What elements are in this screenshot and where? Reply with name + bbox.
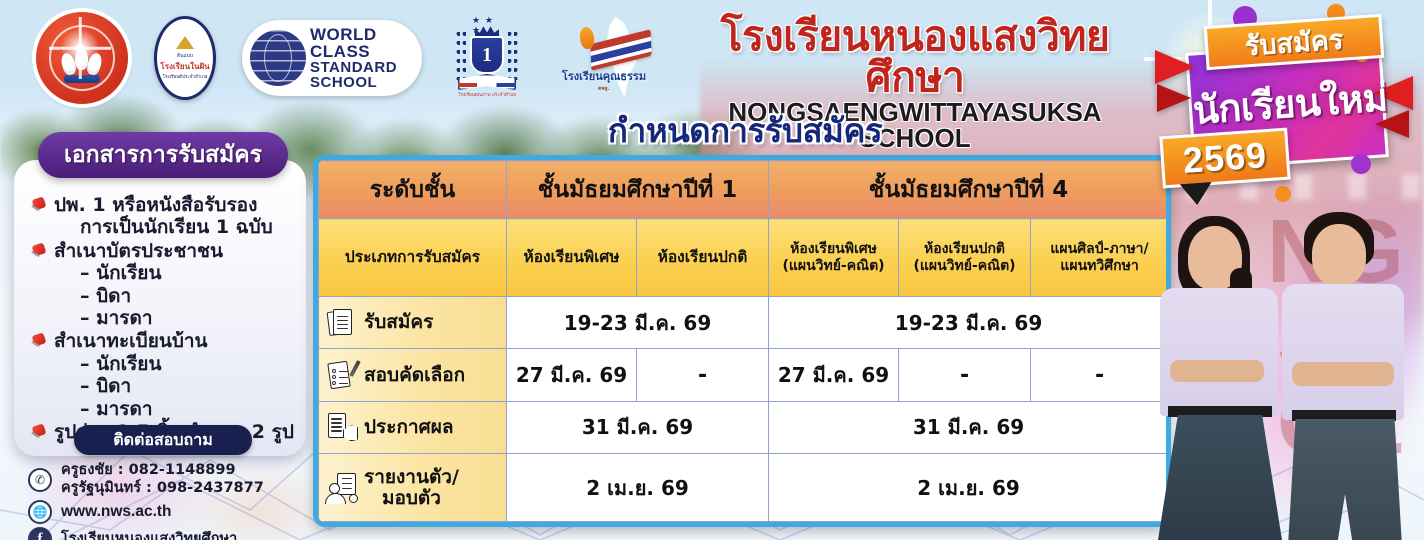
- logo-line-2: โรงเรียนในฝัน: [160, 60, 209, 73]
- crown-icon: [176, 36, 194, 49]
- header-m4-normal-line1: ห้องเรียนปกติ: [902, 241, 1027, 257]
- row-label-line2: มอบตัว: [364, 488, 459, 509]
- laurel-left-icon: [454, 32, 466, 80]
- confetti-dot: [1351, 154, 1371, 174]
- header-level: ระดับชั้น: [319, 161, 507, 219]
- contact-title-text: ติดต่อสอบถาม: [113, 428, 213, 453]
- wcs-line-2: STANDARD SCHOOL: [310, 60, 414, 90]
- header-m4-arts-line1: แผนศิลป์-ภาษา/: [1034, 241, 1165, 257]
- arrow-left-outer-icon: [1155, 50, 1195, 84]
- cell-m1-apply: 19-23 มี.ค. 69: [507, 297, 769, 349]
- header-m4-special-line2: (แผนวิทย์-คณิต): [772, 258, 895, 274]
- schedule-table-wrapper: ระดับชั้น ชั้นมัธยมศึกษาปีที่ 1 ชั้นมัธย…: [313, 155, 1171, 527]
- report-person-icon: [327, 472, 357, 504]
- logo-line-1: ต้นแบบ: [177, 52, 193, 60]
- cell-m4-announce: 31 มี.ค. 69: [769, 401, 1169, 453]
- cell-m4-report: 2 เม.ย. 69: [769, 454, 1169, 522]
- students-photo: [1148, 200, 1416, 540]
- sub-list-item: – นักเรียน: [80, 353, 294, 375]
- row-label-exam: สอบคัดเลือก: [319, 349, 507, 401]
- contact-website-row[interactable]: 🌐 www.nws.ac.th: [28, 500, 298, 524]
- globe-icon: [250, 30, 306, 86]
- contact-website[interactable]: www.nws.ac.th: [61, 503, 172, 522]
- table-header-row-groups: ระดับชั้น ชั้นมัธยมศึกษาปีที่ 1 ชั้นมัธย…: [319, 161, 1169, 219]
- row-label-text: รับสมัคร: [364, 312, 433, 333]
- list-item-text: ปพ. 1 หรือหนังสือรับรอง: [54, 194, 257, 216]
- table-row: ประกาศผล 31 มี.ค. 69 31 มี.ค. 69: [319, 401, 1169, 453]
- local-school-award-logo: ต้นแบบ โรงเรียนในฝัน โรงเรียนดีประจำอำเภ…: [154, 16, 216, 100]
- contact-phone-texts: ครูธงชัย : 082-1148899 ครูรัฐนุมินทร์ : …: [61, 462, 264, 497]
- admission-banner: รับสมัคร นักเรียนใหม่ 2569: [1155, 4, 1415, 209]
- student-female: [1154, 210, 1284, 540]
- header-group-m1: ชั้นมัธยมศึกษาปีที่ 1: [507, 161, 769, 219]
- schedule-table: ระดับชั้น ชั้นมัธยมศึกษาปีที่ 1 ชั้นมัธย…: [318, 160, 1169, 522]
- pushpin-icon: [30, 198, 47, 215]
- documents-panel-title: เอกสารการรับสมัคร: [38, 132, 288, 178]
- laurel-right-icon: [508, 32, 520, 80]
- row-label-line1: รายงานตัว/: [364, 467, 459, 488]
- header-m4-normal-line2: (แผนวิทย์-คณิต): [902, 258, 1027, 274]
- exam-paper-icon: [327, 359, 357, 391]
- row-label-text: สอบคัดเลือก: [364, 365, 465, 386]
- admission-poster: NG YSA OL ต้นแบบ โรงเรียนในฝัน โรงเรียนด…: [0, 0, 1424, 540]
- sub-list: – นักเรียน – บิดา – มารดา: [54, 262, 294, 329]
- row-label-text: ประกาศผล: [364, 417, 453, 438]
- list-item: สำเนาบัตรประชาชน – นักเรียน – บิดา – มาร…: [28, 240, 294, 330]
- header-admission-type: ประเภทการรับสมัคร: [319, 219, 507, 297]
- cell-m4-apply: 19-23 มี.ค. 69: [769, 297, 1169, 349]
- shield-icon: 1: [470, 36, 504, 74]
- facebook-icon: f: [28, 527, 52, 540]
- header-m1-special: ห้องเรียนพิเศษ: [507, 219, 637, 297]
- logo-sub-text: สพฐ.: [552, 85, 656, 93]
- logo-label: โรงเรียนคุณธรรม สพฐ.: [552, 67, 656, 93]
- schedule-title: กำหนดการรับสมัคร: [520, 104, 970, 157]
- header-m1-normal: ห้องเรียนปกติ: [637, 219, 769, 297]
- table-header-row-columns: ประเภทการรับสมัคร ห้องเรียนพิเศษ ห้องเรี…: [319, 219, 1169, 297]
- sub-list-item: – มารดา: [80, 307, 294, 329]
- table-row: รายงานตัว/ มอบตัว 2 เม.ย. 69 2 เม.ย. 69: [319, 454, 1169, 522]
- crest-caption: โรงเรียนคุณภาพ ประจำตำบล: [448, 91, 526, 98]
- world-class-standard-school-logo: WORLD CLASS STANDARD SCHOOL: [242, 20, 422, 96]
- contact-phone-row: ✆ ครูธงชัย : 082-1148899 ครูรัฐนุมินทร์ …: [28, 462, 298, 497]
- table-row: รับสมัคร 19-23 มี.ค. 69 19-23 มี.ค. 69: [319, 297, 1169, 349]
- announcement-icon: [327, 411, 357, 443]
- globe-icon: 🌐: [28, 500, 52, 524]
- header-m4-normal: ห้องเรียนปกติ (แผนวิทย์-คณิต): [899, 219, 1031, 297]
- header-m4-arts-line2: แผนทวิศึกษา: [1034, 258, 1165, 274]
- sub-list-item: – มารดา: [80, 398, 294, 420]
- contact-section: ติดต่อสอบถาม ✆ ครูธงชัย : 082-1148899 คร…: [28, 425, 298, 540]
- banner-year-text: 2569: [1182, 134, 1269, 182]
- row-label-announce: ประกาศผล: [319, 401, 507, 453]
- list-item: ปพ. 1 หรือหนังสือรับรอง การเป็นนักเรียน …: [28, 194, 294, 239]
- table-row: สอบคัดเลือก 27 มี.ค. 69 - 27 มี.ค. 69 - …: [319, 349, 1169, 401]
- documents-panel-title-text: เอกสารการรับสมัคร: [64, 137, 262, 173]
- row-label-text: รายงานตัว/ มอบตัว: [364, 467, 459, 509]
- banner-tag-year: 2569: [1159, 128, 1290, 189]
- contact-facebook-row[interactable]: f โรงเรียนหนองแสงวิทยศึกษา: [28, 527, 298, 540]
- sufficiency-school-thailand-logo: โรงเรียนคุณธรรม สพฐ.: [552, 15, 656, 101]
- documents-icon: [327, 307, 357, 339]
- sub-list: – นักเรียน – บิดา – มารดา: [54, 353, 294, 420]
- logo-row: ต้นแบบ โรงเรียนในฝัน โรงเรียนดีประจำอำเภ…: [36, 8, 656, 108]
- banner-apply-text: รับสมัคร: [1243, 17, 1344, 67]
- quality-award-crest-logo: ★ ★ ★ 1 โรงเรียนคุณภาพ ประจำตำบล: [448, 16, 526, 100]
- documents-panel: เอกสารการรับสมัคร ปพ. 1 หรือหนังสือรับรอ…: [14, 160, 306, 456]
- wcs-line-1: WORLD CLASS: [310, 26, 414, 60]
- row-label-report: รายงานตัว/ มอบตัว: [319, 454, 507, 522]
- student-male: [1274, 210, 1408, 540]
- header-m4-special: ห้องเรียนพิเศษ (แผนวิทย์-คณิต): [769, 219, 899, 297]
- documents-list: ปพ. 1 หรือหนังสือรับรอง การเป็นนักเรียน …: [28, 194, 294, 443]
- sub-list-item: – บิดา: [80, 375, 294, 397]
- contact-phone-2: ครูรัฐนุมินทร์ : 098-2437877: [61, 480, 264, 498]
- sub-list-item: – นักเรียน: [80, 262, 294, 284]
- confetti-dot: [1275, 186, 1291, 202]
- logo-label-text: โรงเรียนคุณธรรม: [562, 70, 646, 83]
- cell-m4-normal-exam: -: [899, 349, 1031, 401]
- contact-phone-1: ครูธงชัย : 082-1148899: [61, 462, 264, 480]
- list-item: สำเนาทะเบียนบ้าน – นักเรียน – บิดา – มาร…: [28, 330, 294, 420]
- logo-line-3: โรงเรียนดีประจำอำเภอ: [163, 73, 208, 80]
- list-item-continuation: การเป็นนักเรียน 1 ฉบับ: [54, 216, 294, 238]
- cell-m1-announce: 31 มี.ค. 69: [507, 401, 769, 453]
- contact-facebook[interactable]: โรงเรียนหนองแสงวิทยศึกษา: [61, 531, 237, 540]
- header-m4-special-line1: ห้องเรียนพิเศษ: [772, 241, 895, 257]
- list-item-text: สำเนาทะเบียนบ้าน: [54, 330, 208, 352]
- contact-title: ติดต่อสอบถาม: [74, 425, 252, 455]
- banner-tag-new-students: นักเรียนใหม่: [1177, 68, 1402, 137]
- phone-icon: ✆: [28, 468, 52, 492]
- sub-list-item: – บิดา: [80, 285, 294, 307]
- school-name-thai: โรงเรียนหนองแสงวิทยศึกษา: [700, 16, 1130, 98]
- list-item-text: สำเนาบัตรประชาชน: [54, 240, 223, 262]
- pushpin-icon: [30, 334, 47, 351]
- cell-m1-normal-exam: -: [637, 349, 769, 401]
- school-seal-logo: [36, 12, 128, 104]
- cell-m4-special-exam: 27 มี.ค. 69: [769, 349, 899, 401]
- cell-m1-report: 2 เม.ย. 69: [507, 454, 769, 522]
- header-group-m4: ชั้นมัธยมศึกษาปีที่ 4: [769, 161, 1169, 219]
- row-label-apply: รับสมัคร: [319, 297, 507, 349]
- pushpin-icon: [30, 244, 47, 261]
- cell-m1-special-exam: 27 มี.ค. 69: [507, 349, 637, 401]
